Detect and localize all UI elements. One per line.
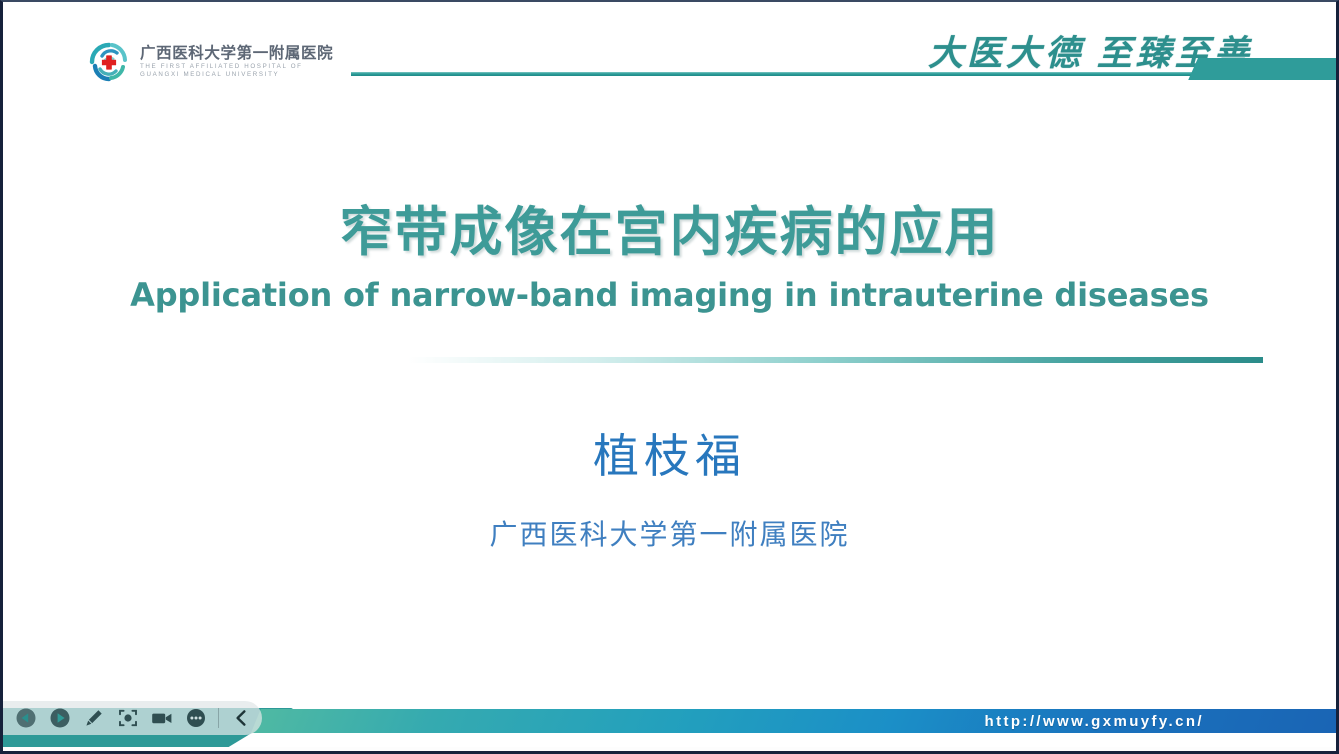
toolbar-separator xyxy=(218,708,219,728)
player-toolbar xyxy=(3,701,262,735)
hospital-name-en-line2: GUANGXI MEDICAL UNIVERSITY xyxy=(140,71,333,80)
motto-calligraphy: 大医大德 至臻至善 xyxy=(928,28,1213,80)
record-button[interactable] xyxy=(147,703,177,733)
play-icon xyxy=(49,707,71,729)
chevron-left-icon xyxy=(232,708,250,728)
hospital-logo: 广西医科大学第一附属医院 THE FIRST AFFILIATED HOSPIT… xyxy=(87,40,333,84)
slide-subtitle-en: Application of narrow-band imaging in in… xyxy=(3,276,1336,314)
pen-icon xyxy=(83,707,105,729)
collapse-button[interactable] xyxy=(226,703,256,733)
hospital-name-en-line1: THE FIRST AFFILIATED HOSPITAL OF xyxy=(140,63,333,72)
presenter-name: 植枝福 xyxy=(3,420,1336,486)
more-button[interactable] xyxy=(181,703,211,733)
presenter-affiliation: 广西医科大学第一附属医院 xyxy=(3,513,1336,553)
slide-title-cn: 窄带成像在宫内疾病的应用 xyxy=(3,190,1336,266)
screenshot-icon xyxy=(117,707,139,729)
hospital-website-url: http://www.gxmuyfy.cn/ xyxy=(985,713,1204,730)
header-accent-parallelogram xyxy=(1188,58,1339,80)
previous-icon xyxy=(15,707,37,729)
slide-bottom-edge xyxy=(3,747,1336,751)
video-camera-icon xyxy=(150,707,174,729)
screenshot-button[interactable] xyxy=(113,703,143,733)
pen-button[interactable] xyxy=(79,703,109,733)
title-gradient-divider xyxy=(408,357,1263,363)
hospital-name-cn: 广西医科大学第一附属医院 xyxy=(140,45,333,63)
previous-button[interactable] xyxy=(11,703,41,733)
play-button[interactable] xyxy=(45,703,75,733)
more-dots-icon xyxy=(185,707,207,729)
slide-header: 广西医科大学第一附属医院 THE FIRST AFFILIATED HOSPIT… xyxy=(3,2,1336,102)
presentation-slide: 广西医科大学第一附属医院 THE FIRST AFFILIATED HOSPIT… xyxy=(0,0,1339,754)
hospital-logo-text: 广西医科大学第一附属医院 THE FIRST AFFILIATED HOSPIT… xyxy=(140,44,333,80)
hospital-swirl-logo-icon xyxy=(87,40,131,84)
